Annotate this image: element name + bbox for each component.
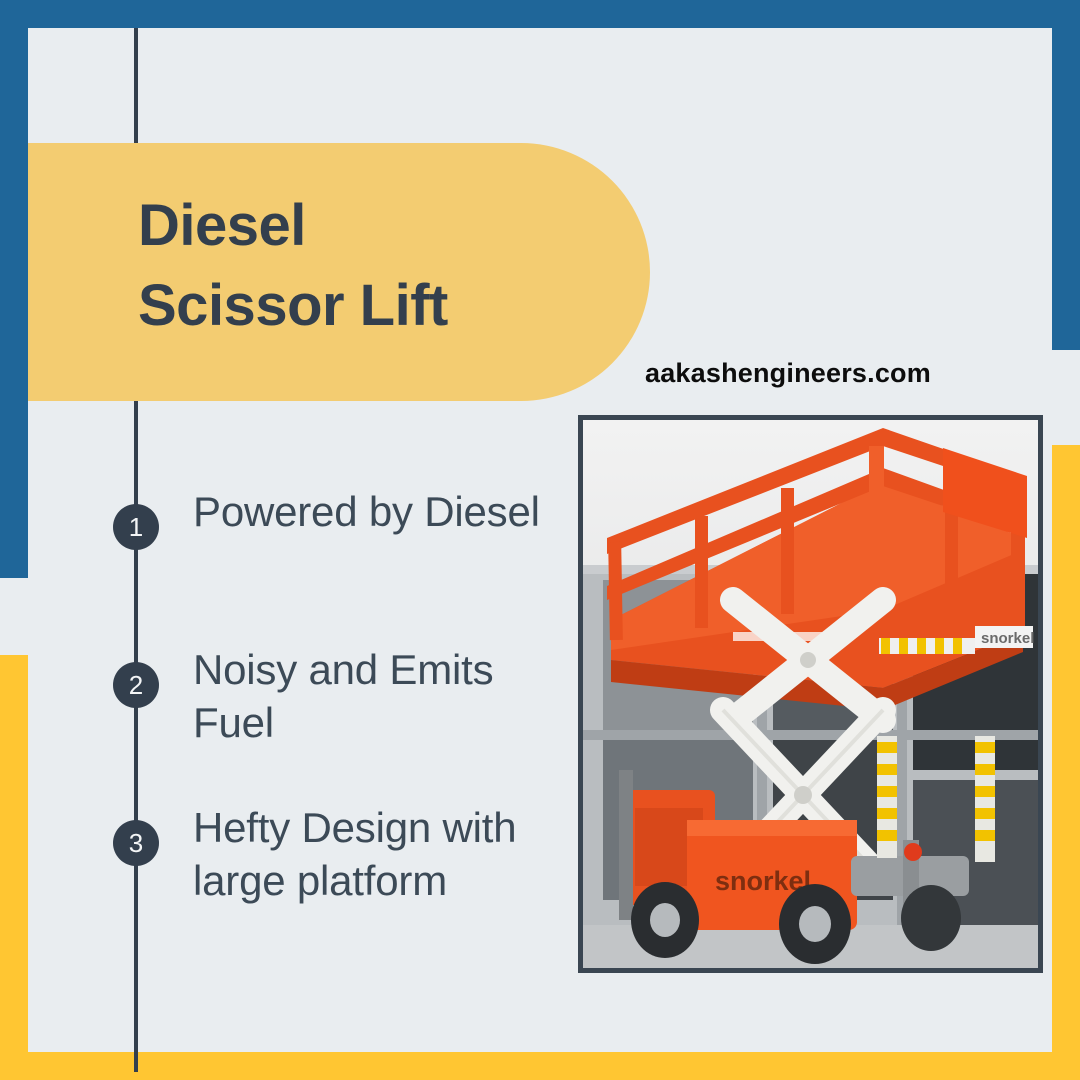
svg-text:snorkel: snorkel (981, 630, 1034, 647)
page-title: Diesel Scissor Lift (138, 186, 608, 346)
product-photo: snorkel snorkel (578, 415, 1043, 973)
list-item: 1 Powered by Diesel (0, 486, 560, 596)
list-item: 3 Hefty Design with large platform (0, 802, 560, 912)
feature-number-badge: 2 (113, 662, 159, 708)
feature-number-badge: 3 (113, 820, 159, 866)
frame-blue-top (0, 0, 1080, 28)
page-title-line-1: Diesel (138, 186, 608, 266)
frame-yellow-right (1052, 445, 1080, 1080)
feature-label: Powered by Diesel (193, 486, 563, 539)
feature-label: Hefty Design with large platform (193, 802, 563, 908)
frame-yellow-bottom (0, 1052, 1080, 1080)
feature-number-badge: 1 (113, 504, 159, 550)
scissor-lift-illustration: snorkel snorkel (583, 420, 1038, 968)
website-url: aakashengineers.com (645, 358, 931, 389)
frame-blue-right (1052, 0, 1080, 350)
infographic-canvas: Diesel Scissor Lift aakashengineers.com … (0, 0, 1080, 1080)
feature-label: Noisy and Emits Fuel (193, 644, 563, 750)
list-item: 2 Noisy and Emits Fuel (0, 644, 560, 754)
feature-list: 1 Powered by Diesel 2 Noisy and Emits Fu… (0, 486, 560, 960)
page-title-line-2: Scissor Lift (138, 266, 608, 346)
